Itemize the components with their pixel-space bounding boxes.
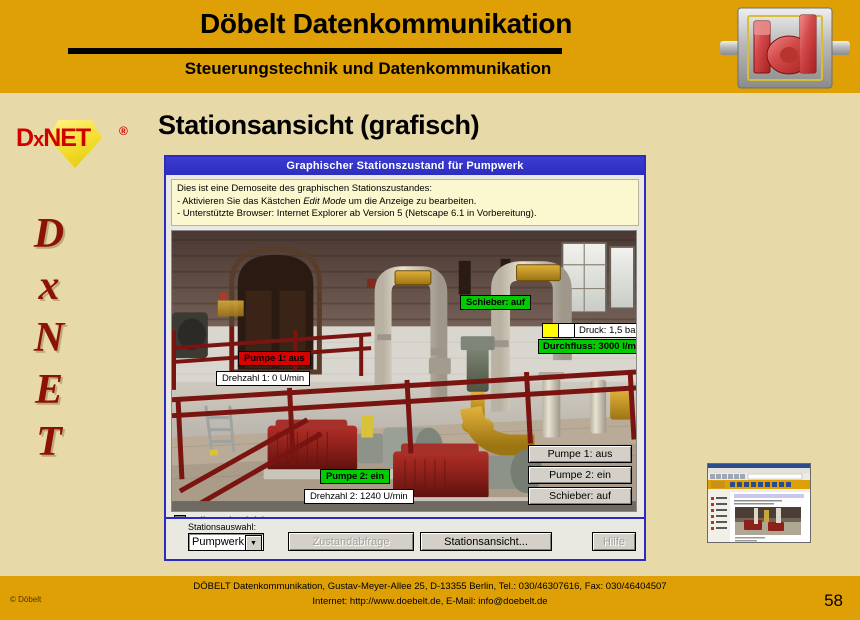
slide-canvas: Döbelt Datenkommunikation Steuerungstech… xyxy=(0,0,860,620)
browser-screenshot-thumbnail[interactable] xyxy=(707,463,811,543)
station-select-label: Stationsauswahl: xyxy=(188,522,256,532)
druck-blank-segment xyxy=(559,324,575,337)
station-select-value: Pumpwerk xyxy=(192,536,244,548)
vertical-letter: E xyxy=(14,364,84,416)
vertical-letter: N xyxy=(14,312,84,364)
page-number: 58 xyxy=(824,591,843,611)
footer-address: DÖBELT Datenkommunikation, Gustav-Meyer-… xyxy=(0,581,860,592)
vertical-letter: D xyxy=(14,208,84,260)
info-line-2-post: um die Anzeige zu bearbeiten. xyxy=(346,196,476,207)
footer-contact: Internet: http://www.doebelt.de, E-Mail:… xyxy=(0,596,860,607)
chevron-down-icon[interactable]: ▼ xyxy=(245,535,262,551)
page-header: Döbelt Datenkommunikation Steuerungstech… xyxy=(0,0,860,93)
footer-copyright: © Döbelt xyxy=(10,595,41,604)
info-panel: Dies ist eine Demoseite des graphischen … xyxy=(171,179,639,226)
company-title: Döbelt Datenkommunikation xyxy=(86,8,686,40)
zustandabfrage-button[interactable]: Zustandabfrage xyxy=(288,532,414,551)
thumbnail-image xyxy=(708,464,810,542)
page-footer: DÖBELT Datenkommunikation, Gustav-Meyer-… xyxy=(0,576,860,620)
station-view-window: Graphischer Stationszustand für Pumpwerk… xyxy=(164,155,646,561)
overlay-drehzahl2-value[interactable]: Drehzahl 2: 1240 U/min xyxy=(304,489,414,504)
header-divider xyxy=(68,48,562,54)
druck-indicator-segment xyxy=(543,324,559,337)
overlay-pumpe1-status[interactable]: Pumpe 1: aus xyxy=(238,351,311,366)
druck-value: Druck: 1,5 bar xyxy=(575,324,637,337)
registered-mark: ® xyxy=(119,124,128,138)
station-photo[interactable]: Schieber: auf Pumpe 1: aus Drehzahl 1: 0… xyxy=(171,230,637,512)
meter-druck[interactable]: Druck: 1,5 bar xyxy=(542,323,637,338)
window-title-bar: Graphischer Stationszustand für Pumpwerk xyxy=(166,157,644,175)
info-line-2: - Aktivieren Sie das Kästchen Edit Mode … xyxy=(177,196,633,209)
pumpe-1-button[interactable]: Pumpe 1: aus xyxy=(528,445,632,463)
station-select[interactable]: Pumpwerk ▼ xyxy=(188,533,264,551)
window-body: Dies ist eine Demoseite des graphischen … xyxy=(166,175,644,531)
pumpe-2-button[interactable]: Pumpe 2: ein xyxy=(528,466,632,484)
stationsansicht-button[interactable]: Stationsansicht... xyxy=(420,532,552,551)
window-toolbar: Stationsauswahl: Pumpwerk ▼ Zustandabfra… xyxy=(166,517,644,559)
vertical-letter: x xyxy=(14,260,84,312)
dxnet-logo: DxNET ® xyxy=(16,118,136,168)
dxnet-letter-x: x xyxy=(33,129,43,151)
vertical-brand-letters: D x N E T xyxy=(14,208,84,468)
info-line-2-pre: - Aktivieren Sie das Kästchen xyxy=(177,196,303,207)
overlay-schieber-status[interactable]: Schieber: auf xyxy=(460,295,531,310)
info-line-3: - Unterstützte Browser: Internet Explore… xyxy=(177,208,633,221)
window-title-text: Graphischer Stationszustand für Pumpwerk xyxy=(286,160,523,172)
meter-durchfluss[interactable]: Durchfluss: 3000 l/min xyxy=(538,339,637,354)
dxnet-wordmark: DxNET xyxy=(16,124,90,153)
hilfe-button[interactable]: Hilfe xyxy=(592,532,636,551)
overlay-pumpe2-status[interactable]: Pumpe 2: ein xyxy=(320,469,390,484)
control-button-stack: Pumpe 1: aus Pumpe 2: ein Schieber: auf xyxy=(528,445,632,505)
info-line-1: Dies ist eine Demoseite des graphischen … xyxy=(177,183,633,196)
dxnet-letters-net: NET xyxy=(43,124,90,152)
vertical-letter: T xyxy=(14,416,84,468)
info-line-2-emphasis: Edit Mode xyxy=(303,196,346,207)
schieber-button[interactable]: Schieber: auf xyxy=(528,487,632,505)
id-logo-icon xyxy=(716,3,854,91)
dxnet-letter-d: D xyxy=(16,124,33,152)
durchfluss-value: Durchfluss: 3000 l/min xyxy=(539,340,637,353)
overlay-drehzahl1-value[interactable]: Drehzahl 1: 0 U/min xyxy=(216,371,310,386)
page-title: Stationsansicht (grafisch) xyxy=(158,110,479,141)
company-subtitle: Steuerungstechnik und Datenkommunikation xyxy=(68,59,668,79)
